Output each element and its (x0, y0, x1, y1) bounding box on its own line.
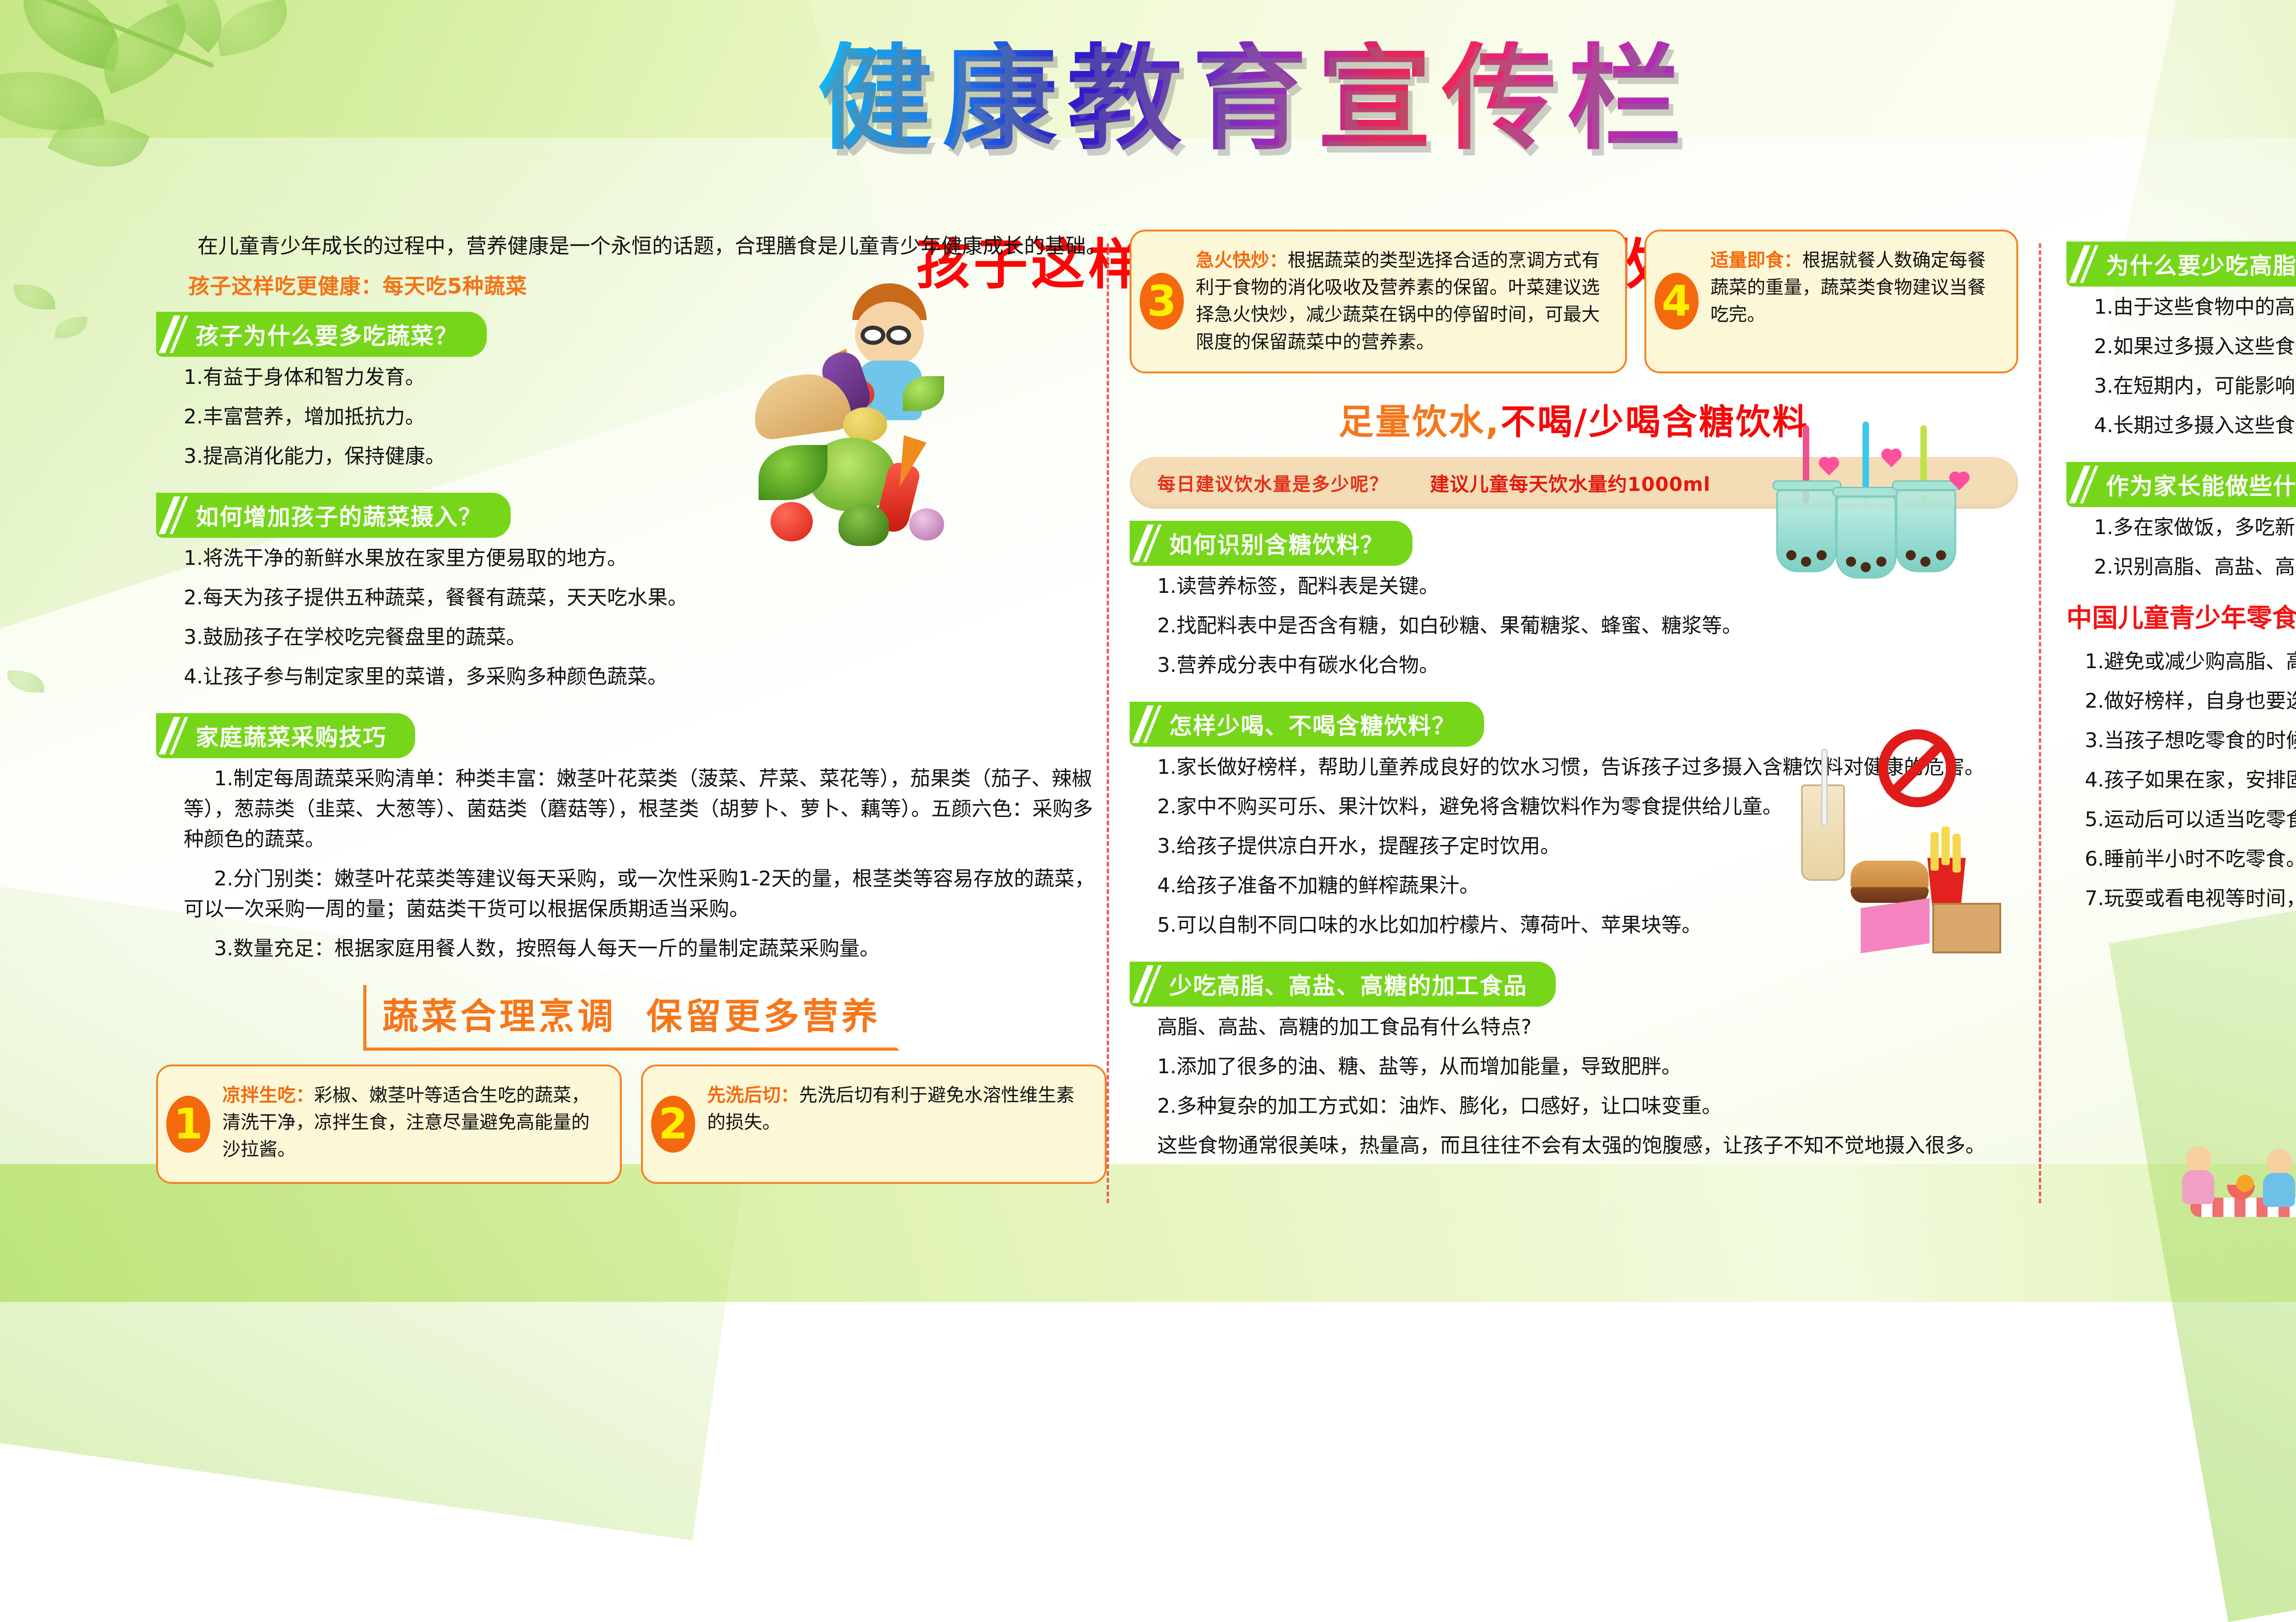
list-item: 1.由于这些食物中的高油和高糖，孩子很容易不小心摄入过多的能量。 (2094, 292, 2296, 322)
onion-icon (909, 508, 944, 541)
list-item: 1.有益于身体和智力发育。 (184, 362, 1107, 393)
boba-pearl-icon (1876, 557, 1886, 567)
section-increase-vegetable-intake: 如何增加孩子的蔬菜摄入？ 1.将洗干净的新鲜水果放在家里方便易取的地方。 2.每… (156, 481, 1107, 692)
section-less-processed-food: 少吃高脂、高盐、高糖的加工食品 高脂、高盐、高糖的加工食品有什么特点? 1.添加… (1130, 950, 2018, 1161)
cooking-tip-card: 3 急火快炒：根据蔬菜的类型选择合适的烹调方式有利于食物的消化吸收及营养素的保留… (1130, 230, 1627, 373)
snack-guide-list: 1.避免或减少购高脂、高盐、高糖的零食食品。 2.做好榜样，自身也要选择健康零食… (2085, 647, 2296, 914)
section-body-list: 1.将洗干净的新鲜水果放在家里方便易取的地方。 2.每天为孩子提供五种蔬菜，餐餐… (184, 543, 1107, 692)
left-column: 在儿童青少年成长的过程中，营养健康是一个永恒的话题，合理膳食是儿童青少年健康成长… (156, 230, 1107, 1184)
list-item: 4.孩子如果在家，安排固定的零食时间，其他时间不吃零食。 (2085, 765, 2296, 795)
card-number-badge: 3 (1140, 273, 1184, 330)
eyeglass-right-icon (886, 326, 911, 345)
card-text: 适量即食：根据就餐人数确定每餐蔬菜的重量，蔬菜类食物建议当餐吃完。 (1711, 247, 2003, 329)
boba-pearl-icon (1801, 557, 1811, 567)
section-body-list: 1.家长做好榜样，帮助儿童养成良好的饮水习惯，告诉孩子过多摄入含糖饮料对健康的危… (1157, 752, 2018, 941)
section-heading-tag: 如何增加孩子的蔬菜摄入？ (156, 493, 511, 538)
list-item: 3.提高消化能力，保持健康。 (184, 441, 1107, 472)
card-text: 急火快炒：根据蔬菜的类型选择合适的烹调方式有利于食物的消化吸收及营养素的保留。叶… (1196, 247, 1612, 356)
cooking-headline-banner: 蔬菜合理烹调 保留更多营养 (156, 985, 1107, 1051)
section-heading-tag: 孩子为什么要多吃蔬菜？ (156, 312, 487, 357)
cooking-tip-card: 2 先洗后切：先洗后切有利于避免水溶性维生素的损失。 (641, 1064, 1107, 1184)
section-heading-tag: 家庭蔬菜采购技巧 (156, 713, 415, 758)
card-number-badge: 2 (651, 1096, 695, 1153)
water-headline-red: 不喝/少喝含糖饮料 (1501, 401, 1809, 442)
section-reduce-sugary-drinks: 怎样少喝、不喝含糖饮料？ 1.家长做好榜样，帮助儿童养成良好的饮水习惯，告诉孩子… (1130, 690, 2018, 941)
section-heading-tag: 作为家长能做些什么呢？ (2066, 462, 2296, 507)
tomato-icon (771, 502, 813, 541)
section-family-vegetable-shopping: 家庭蔬菜采购技巧 1.制定每周蔬菜采购清单：种类丰富：嫩茎叶花菜类（菠菜、芹菜、… (156, 701, 1107, 964)
list-item: 3.当孩子想吃零食的时候，优选一块新鲜的水果、小把原味坚果、纯牛奶或者新鲜蔬菜。 (2085, 726, 2296, 756)
list-item: 5.运动后可以适当吃零食。 (2085, 805, 2296, 835)
list-item: 4.让孩子参与制定家里的菜谱，多采购多种颜色蔬菜。 (184, 662, 1107, 692)
cooking-headline-box: 蔬菜合理烹调 保留更多营养 (363, 985, 899, 1051)
boba-pearl-icon (1906, 550, 1916, 560)
boba-pearl-icon (1817, 550, 1827, 560)
cooking-tip-cards: 1 凉拌生吃：彩椒、嫩茎叶等适合生吃的蔬菜，清洗干净，凉拌生食，注意尽量避免高能… (156, 1064, 1107, 1184)
card-number-badge: 1 (166, 1096, 210, 1153)
red-pepper-icon (874, 461, 922, 535)
water-section-headline: 足量饮水,不喝/少喝含糖饮料 (1130, 394, 2018, 444)
poster-header: 健康教育宣传栏 健康教育宣传栏 2024年4月 第二期 (0, 0, 2296, 193)
broccoli-icon (838, 504, 889, 546)
list-item: 2.如果过多摄入这些食物，忽略膳食多样性，可能会导致维生素摄入不足。 (2094, 332, 2296, 362)
boba-pearl-icon (1920, 557, 1930, 567)
cooking-tip-card: 1 凉拌生吃：彩椒、嫩茎叶等适合生吃的蔬菜，清洗干净，凉拌生食，注意尽量避免高能… (156, 1064, 622, 1184)
cooking-headline-left: 蔬菜合理烹调 (382, 996, 616, 1037)
list-item: 1.将洗干净的新鲜水果放在家里方便易取的地方。 (184, 543, 1107, 574)
section-body-list: 1.由于这些食物中的高油和高糖，孩子很容易不小心摄入过多的能量。 2.如果过多摄… (2094, 292, 2296, 441)
intro-paragraph: 在儿童青少年成长的过程中，营养健康是一个永恒的话题，合理膳食是儿童青少年健康成长… (156, 230, 1107, 263)
list-item: 2.家中不购买可乐、果汁饮料，避免将含糖饮料作为零食提供给儿童。 (1157, 792, 2018, 822)
list-item: 4.长期过多摄入这些食物，可能导致糖尿病、高血压或超重。 (2094, 411, 2296, 441)
card-keyword: 适量即食： (1711, 250, 1802, 271)
list-item: 1.添加了很多的油、糖、盐等，从而增加能量，导致肥胖。 (1157, 1052, 2018, 1082)
section-body-list: 1.有益于身体和智力发育。 2.丰富营养，增加抵抗力。 3.提高消化能力，保持健… (184, 362, 1107, 472)
list-item: 2.丰富营养，增加抵抗力。 (184, 402, 1107, 432)
list-item: 1.避免或减少购高脂、高盐、高糖的零食食品。 (2085, 647, 2296, 677)
list-item: 2.分门别类：嫩茎叶花菜类等建议每天采购，或一次性采购1-2天的量，根茎类等容易… (184, 864, 1107, 924)
boba-pearl-icon (1936, 550, 1946, 560)
list-item: 5.可以自制不同口味的水比如加柠檬片、薄荷叶、苹果块等。 (1157, 910, 2018, 941)
list-item: 3.给孩子提供凉白开水，提醒孩子定时饮用。 (1157, 831, 2018, 862)
section-what-parents-can-do: 作为家长能做些什么呢？ 1.多在家做饭，多吃新鲜天然的食物。 2.识别高脂、高盐… (2066, 450, 2296, 582)
kid-head-icon (855, 302, 924, 367)
section-identify-sugary-drinks: 如何识别含糖饮料？ 1.读营养标签，配料表是关键。 2.找配料表中是否含有糖，如… (1130, 509, 2018, 681)
list-item: 3.鼓励孩子在学校吃完餐盘里的蔬菜。 (184, 622, 1107, 653)
section-why-less-processed-food: 为什么要少吃高脂、高盐、高糖的加工食品？ 1.由于这些食物中的高油和高糖，孩子很… (2066, 230, 2296, 441)
section-body-list: 1.读营养标签，配料表是关键。 2.找配料表中是否含有糖，如白砂糖、果葡糖浆、蜂… (1157, 571, 2018, 681)
snack-guide-headline: 中国儿童青少年零食指南应该如何更好地安排孩子零食 (2066, 603, 2296, 635)
card-keyword: 先洗后切： (707, 1085, 799, 1106)
section-body-list: 1.制定每周蔬菜采购清单：种类丰富：嫩茎叶花菜类（菠菜、芹菜、菜花等），茄果类（… (184, 764, 1107, 964)
boba-pearl-icon (1861, 562, 1871, 572)
list-item: 3.数量充足：根据家庭用餐人数，按照每人每天一斤的量制定蔬菜采购量。 (184, 934, 1107, 964)
boba-pearl-icon (1846, 557, 1856, 567)
eyeglass-left-icon (861, 326, 885, 345)
list-item: 2.识别高脂、高盐、高糖的加工食品并提醒孩子。 (2094, 552, 2296, 582)
column-divider-1 (1107, 243, 1109, 1203)
section-why-vegetables: 孩子为什么要多吃蔬菜？ 1.有益于身体和智力发育。 2.丰富营养，增加抵抗力。 … (156, 300, 1107, 472)
list-item: 3.营养成分表中有碳水化合物。 (1157, 650, 2018, 681)
water-answer: 建议儿童每天饮水量约1000ml (1430, 469, 1711, 497)
cooking-tip-cards-continued: 3 急火快炒：根据蔬菜的类型选择合适的烹调方式有利于食物的消化吸收及营养素的保留… (1130, 230, 2018, 373)
section-body-list: 1.多在家做饭，多吃新鲜天然的食物。 2.识别高脂、高盐、高糖的加工食品并提醒孩… (2094, 513, 2296, 582)
list-item: 1.读营养标签，配料表是关键。 (1157, 571, 2018, 602)
right-column: 为什么要少吃高脂、高盐、高糖的加工食品？ 1.由于这些食物中的高油和高糖，孩子很… (2066, 230, 2296, 923)
list-item: 高脂、高盐、高糖的加工食品有什么特点? (1157, 1012, 2018, 1042)
water-question: 每日建议饮水量是多少呢？ (1157, 469, 1389, 496)
column-divider-2 (2039, 243, 2041, 1203)
water-headline-orange: 足量饮水, (1339, 401, 1501, 442)
list-item: 1.制定每周蔬菜采购清单：种类丰富：嫩茎叶花菜类（菠菜、芹菜、菜花等），茄果类（… (184, 764, 1107, 855)
middle-column: 3 急火快炒：根据蔬菜的类型选择合适的烹调方式有利于食物的消化吸收及营养素的保留… (1130, 230, 2018, 1170)
orange-lead-text: 孩子这样吃更健康：每天吃5种蔬菜 (188, 270, 1107, 300)
section-heading-tag: 为什么要少吃高脂、高盐、高糖的加工食品？ (2066, 242, 2296, 287)
card-number-badge: 4 (1654, 273, 1699, 330)
list-item: 1.多在家做饭，多吃新鲜天然的食物。 (2094, 513, 2296, 543)
card-keyword: 急火快炒： (1196, 250, 1288, 271)
cooking-tip-card: 4 适量即食：根据就餐人数确定每餐蔬菜的重量，蔬菜类食物建议当餐吃完。 (1644, 230, 2018, 373)
section-heading-tag: 少吃高脂、高盐、高糖的加工食品 (1130, 962, 1556, 1007)
list-item: 2.找配料表中是否含有糖，如白砂糖、果葡糖浆、蜂蜜、糖浆等。 (1157, 611, 2018, 641)
section-heading-tag: 如何识别含糖饮料？ (1130, 521, 1412, 566)
section-heading-tag: 怎样少喝、不喝含糖饮料？ (1130, 702, 1484, 747)
list-item: 1.家长做好榜样，帮助儿童养成良好的饮水习惯，告诉孩子过多摄入含糖饮料对健康的危… (1157, 752, 2018, 783)
page-title: 健康教育宣传栏 (817, 41, 1692, 156)
list-item: 3.在短期内，可能影响学习或体育活动。 (2094, 371, 2296, 401)
list-item: 4.给孩子准备不加糖的鲜榨蔬果汁。 (1157, 871, 2018, 901)
boba-pearl-icon (1786, 550, 1796, 560)
card-text: 先洗后切：先洗后切有利于避免水溶性维生素的损失。 (707, 1082, 1092, 1136)
list-item: 7.玩耍或看电视等时间，不吃零食。 (2085, 884, 2296, 914)
list-item: 6.睡前半小时不吃零食。 (2085, 844, 2296, 874)
list-item: 这些食物通常很美味，热量高，而且往往不会有太强的饱腹感，让孩子不知不觉地摄入很多… (1157, 1131, 2018, 1161)
list-item: 2.每天为孩子提供五种蔬菜，餐餐有蔬菜，天天吃水果。 (184, 583, 1107, 613)
list-item: 2.多种复杂的加工方式如：油炸、膨化，口感好，让口味变重。 (1157, 1091, 2018, 1121)
card-text: 凉拌生吃：彩椒、嫩茎叶等适合生吃的蔬菜，清洗干净，凉拌生食，注意尽量避免高能量的… (222, 1082, 607, 1164)
section-body-list: 高脂、高盐、高糖的加工食品有什么特点? 1.添加了很多的油、糖、盐等，从而增加能… (1157, 1012, 2018, 1161)
water-amount-bar: 每日建议饮水量是多少呢？ 建议儿童每天饮水量约1000ml (1130, 457, 2018, 509)
list-item: 2.做好榜样，自身也要选择健康零食，让健康零食成为习惯。 (2085, 686, 2296, 716)
leaf-fleck-icon (7, 670, 44, 693)
card-keyword: 凉拌生吃： (222, 1085, 314, 1106)
cooking-headline-right: 保留更多营养 (647, 996, 881, 1037)
